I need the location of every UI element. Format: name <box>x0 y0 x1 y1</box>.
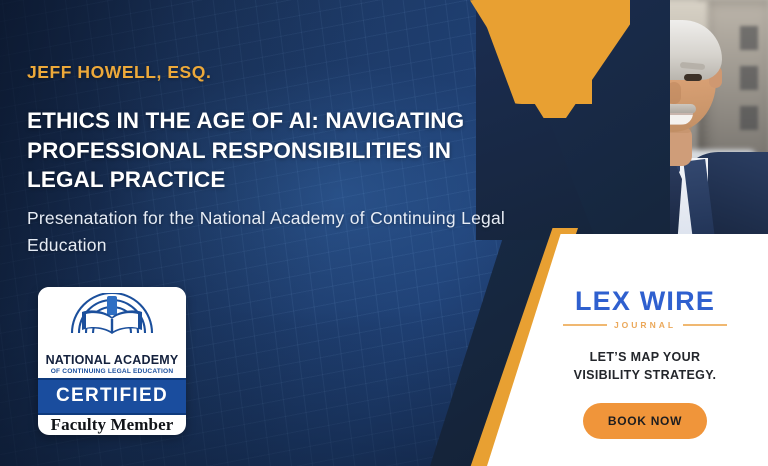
promo-tagline: LET’S MAP YOUR VISIBILITY STRATEGY. <box>540 348 750 384</box>
rule-left <box>563 324 607 326</box>
eye-right <box>684 74 702 81</box>
badge-organization: NATIONAL ACADEMY <box>38 353 186 367</box>
rule-right <box>683 324 727 326</box>
promo-tagline-line1: LET’S MAP YOUR <box>540 348 750 366</box>
speaker-name: JEFF HOWELL, ESQ. <box>27 62 211 83</box>
speaker-announcement-banner: JEFF HOWELL, ESQ. ETHICS IN THE AGE OF A… <box>0 0 768 466</box>
promo-panel: LEX WIRE JOURNAL LET’S MAP YOUR VISIBILI… <box>540 288 750 439</box>
badge-status: CERTIFIED <box>38 378 186 415</box>
badge-header <box>38 287 186 355</box>
book-now-button[interactable]: BOOK NOW <box>583 403 707 439</box>
lexwire-logo-sub: JOURNAL <box>614 320 676 330</box>
open-book-icon <box>64 293 160 342</box>
lexwire-logo: LEX WIRE <box>540 288 750 315</box>
promo-tagline-line2: VISIBILITY STRATEGY. <box>540 366 750 384</box>
certification-badge: NATIONAL ACADEMY OF CONTINUING LEGAL EDU… <box>38 287 186 435</box>
badge-role: Faculty Member <box>38 415 186 435</box>
page-title: ETHICS IN THE AGE OF AI: NAVIGATING PROF… <box>27 106 527 195</box>
badge-organization-sub: OF CONTINUING LEGAL EDUCATION <box>38 368 186 378</box>
lexwire-journal-row: JOURNAL <box>540 320 750 330</box>
subtitle: Presenatation for the National Academy o… <box>27 205 505 259</box>
